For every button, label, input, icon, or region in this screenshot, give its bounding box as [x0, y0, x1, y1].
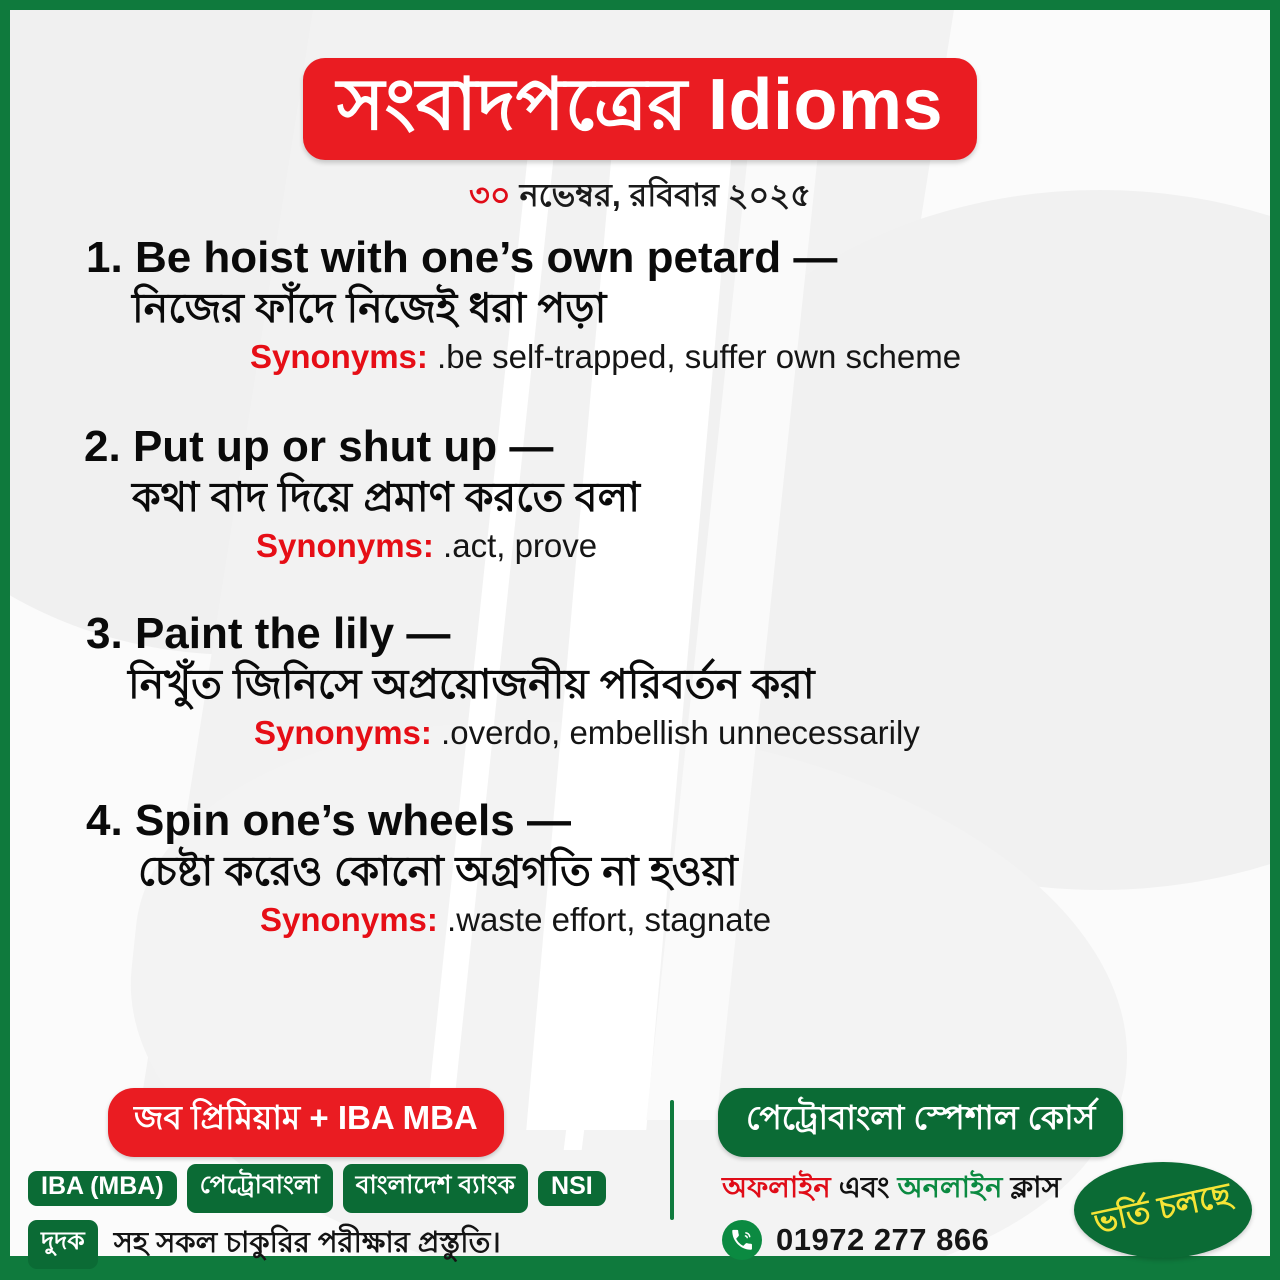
idiom-synonyms: Synonyms: .waste effort, stagnate	[64, 899, 1216, 942]
idiom-english-text: Be hoist with one’s own petard —	[135, 233, 837, 282]
footer-right: পেট্রোবাংলা স্পেশাল কোর্স অফলাইন এবং অনল…	[674, 1088, 1270, 1260]
phone-call-icon	[722, 1220, 762, 1260]
idiom-english: 3. Paint the lily —	[64, 608, 1216, 659]
footer: জব প্রিমিয়াম + IBA MBA IBA (MBA) পেট্রো…	[10, 1088, 1270, 1256]
mode-online: অনলাইন	[898, 1172, 1003, 1204]
footer-left: জব প্রিমিয়াম + IBA MBA IBA (MBA) পেট্রো…	[10, 1088, 670, 1269]
idiom-synonyms: Synonyms: .act, prove	[64, 525, 1216, 568]
poster-content: সংবাদপত্রের Idioms ৩০ নভেম্বর, রবিবার ২০…	[10, 10, 1270, 942]
admission-badge-label: ভর্তি চলছে	[1089, 1169, 1236, 1251]
idiom-english-text: Spin one’s wheels —	[135, 796, 571, 845]
exam-tag-nsi[interactable]: NSI	[538, 1171, 606, 1206]
idiom-index: 2.	[84, 422, 121, 471]
date-number: ৩০	[469, 177, 511, 213]
idiom-synonyms: Synonyms: .overdo, embellish unnecessari…	[64, 712, 1216, 755]
idiom-item: 2. Put up or shut up — কথা বাদ দিয়ে প্র…	[64, 421, 1216, 568]
idiom-bangla: নিজের ফাঁদে নিজেই ধরা পড়া	[64, 283, 1216, 334]
idiom-english-text: Paint the lily —	[135, 609, 450, 658]
exam-tag-iba[interactable]: IBA (MBA)	[28, 1171, 177, 1206]
idiom-english: 1. Be hoist with one’s own petard —	[64, 232, 1216, 283]
exam-tag-dudok[interactable]: দুদক	[28, 1220, 98, 1269]
idiom-index: 1.	[86, 233, 123, 282]
synonyms-value: .act, prove	[443, 527, 597, 564]
exam-tag-row-2: দুদক সহ সকল চাকুরির পরীক্ষার প্রস্তুতি।	[28, 1220, 670, 1269]
idiom-english-text: Put up or shut up —	[133, 422, 553, 471]
idiom-bangla: নিখুঁত জিনিসে অপ্রয়োজনীয় পরিবর্তন করা	[64, 659, 1216, 710]
synonyms-value: .waste effort, stagnate	[447, 901, 771, 938]
synonyms-label: Synonyms:	[256, 527, 434, 564]
page-title: সংবাদপত্রের Idioms	[303, 58, 977, 160]
poster-inner: সংবাদপত্রের Idioms ৩০ নভেম্বর, রবিবার ২০…	[8, 8, 1272, 1272]
petrobangla-course-pill[interactable]: পেট্রোবাংলা স্পেশাল কোর্স	[718, 1088, 1123, 1157]
synonyms-value: .be self-trapped, suffer own scheme	[437, 338, 961, 375]
idiom-bangla: কথা বাদ দিয়ে প্রমাণ করতে বলা	[64, 472, 1216, 523]
exam-tag-row: IBA (MBA) পেট্রোবাংলা বাংলাদেশ ব্যাংক NS…	[28, 1164, 670, 1213]
admission-badge[interactable]: ভর্তি চলছে	[1074, 1162, 1252, 1258]
idiom-synonyms: Synonyms: .be self-trapped, suffer own s…	[64, 336, 1216, 379]
idiom-bangla: চেষ্টা করেও কোনো অগ্রগতি না হওয়া	[64, 846, 1216, 897]
job-premium-pill[interactable]: জব প্রিমিয়াম + IBA MBA	[108, 1088, 504, 1157]
idiom-item: 4. Spin one’s wheels — চেষ্টা করেও কোনো …	[64, 795, 1216, 942]
idiom-english: 4. Spin one’s wheels —	[64, 795, 1216, 846]
footer-tail-text: সহ সকল চাকুরির পরীক্ষার প্রস্তুতি।	[114, 1220, 501, 1269]
date-line: ৩০ নভেম্বর, রবিবার ২০২৫	[10, 170, 1270, 224]
idiom-english: 2. Put up or shut up —	[64, 421, 1216, 472]
idiom-list: 1. Be hoist with one’s own petard — নিজে…	[10, 232, 1270, 943]
mode-offline: অফলাইন	[722, 1172, 831, 1204]
exam-tag-petrobangla[interactable]: পেট্রোবাংলা	[187, 1164, 333, 1213]
idiom-item: 3. Paint the lily — নিখুঁত জিনিসে অপ্রয়…	[64, 608, 1216, 755]
header: সংবাদপত্রের Idioms	[10, 10, 1270, 160]
phone-number[interactable]: 01972 277 866	[776, 1222, 989, 1258]
idiom-index: 4.	[86, 796, 123, 845]
synonyms-label: Synonyms:	[260, 901, 438, 938]
idiom-item: 1. Be hoist with one’s own petard — নিজে…	[64, 232, 1216, 379]
synonyms-value: .overdo, embellish unnecessarily	[441, 714, 920, 751]
mode-class: ক্লাস	[1010, 1172, 1060, 1204]
date-rest: নভেম্বর, রবিবার ২০২৫	[520, 177, 811, 213]
idiom-index: 3.	[86, 609, 123, 658]
synonyms-label: Synonyms:	[254, 714, 432, 751]
synonyms-label: Synonyms:	[250, 338, 428, 375]
poster: সংবাদপত্রের Idioms ৩০ নভেম্বর, রবিবার ২০…	[0, 0, 1280, 1280]
exam-tag-bangladesh-bank[interactable]: বাংলাদেশ ব্যাংক	[343, 1164, 528, 1213]
mode-conj: এবং	[839, 1172, 890, 1204]
